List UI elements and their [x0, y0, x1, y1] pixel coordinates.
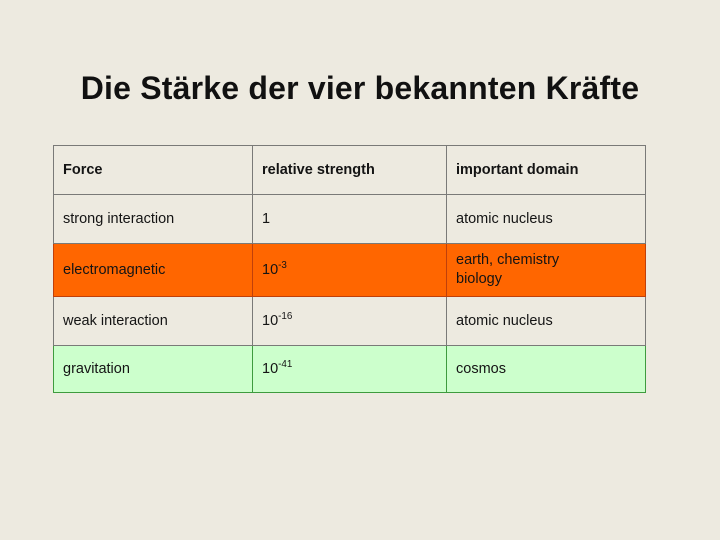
strength-exponent: -3: [278, 260, 287, 271]
cell-important-domain: atomic nucleus: [447, 297, 646, 346]
cell-relative-strength: 10-41: [253, 346, 447, 393]
strength-base: 1: [262, 211, 270, 227]
cell-important-domain: cosmos: [447, 346, 646, 393]
strength-exponent: -41: [278, 359, 292, 370]
column-header-important-domain: important domain: [447, 146, 646, 195]
table-row: weak interaction 10-16 atomic nucleus: [54, 297, 646, 346]
strength-base: 10: [262, 313, 278, 329]
forces-table: Force relative strength important domain…: [53, 145, 646, 393]
strength-exponent: -16: [278, 311, 292, 322]
table-row: gravitation 10-41 cosmos: [54, 346, 646, 393]
table-header-row: Force relative strength important domain: [54, 146, 646, 195]
column-header-force: Force: [54, 146, 253, 195]
strength-base: 10: [262, 262, 278, 278]
page-title: Die Stärke der vier bekannten Kräfte: [0, 70, 720, 107]
table-row: electromagnetic 10-3 earth, chemistry bi…: [54, 244, 646, 297]
strength-base: 10: [262, 361, 278, 377]
cell-relative-strength: 10-16: [253, 297, 447, 346]
cell-force: weak interaction: [54, 297, 253, 346]
cell-force: strong interaction: [54, 195, 253, 244]
column-header-relative-strength: relative strength: [253, 146, 447, 195]
slide: Die Stärke der vier bekannten Kräfte For…: [0, 0, 720, 540]
cell-relative-strength: 10-3: [253, 244, 447, 297]
cell-relative-strength: 1: [253, 195, 447, 244]
table-row: strong interaction 1 atomic nucleus: [54, 195, 646, 244]
cell-important-domain: earth, chemistry biology: [447, 244, 646, 297]
cell-force: electromagnetic: [54, 244, 253, 297]
cell-important-domain: atomic nucleus: [447, 195, 646, 244]
cell-force: gravitation: [54, 346, 253, 393]
